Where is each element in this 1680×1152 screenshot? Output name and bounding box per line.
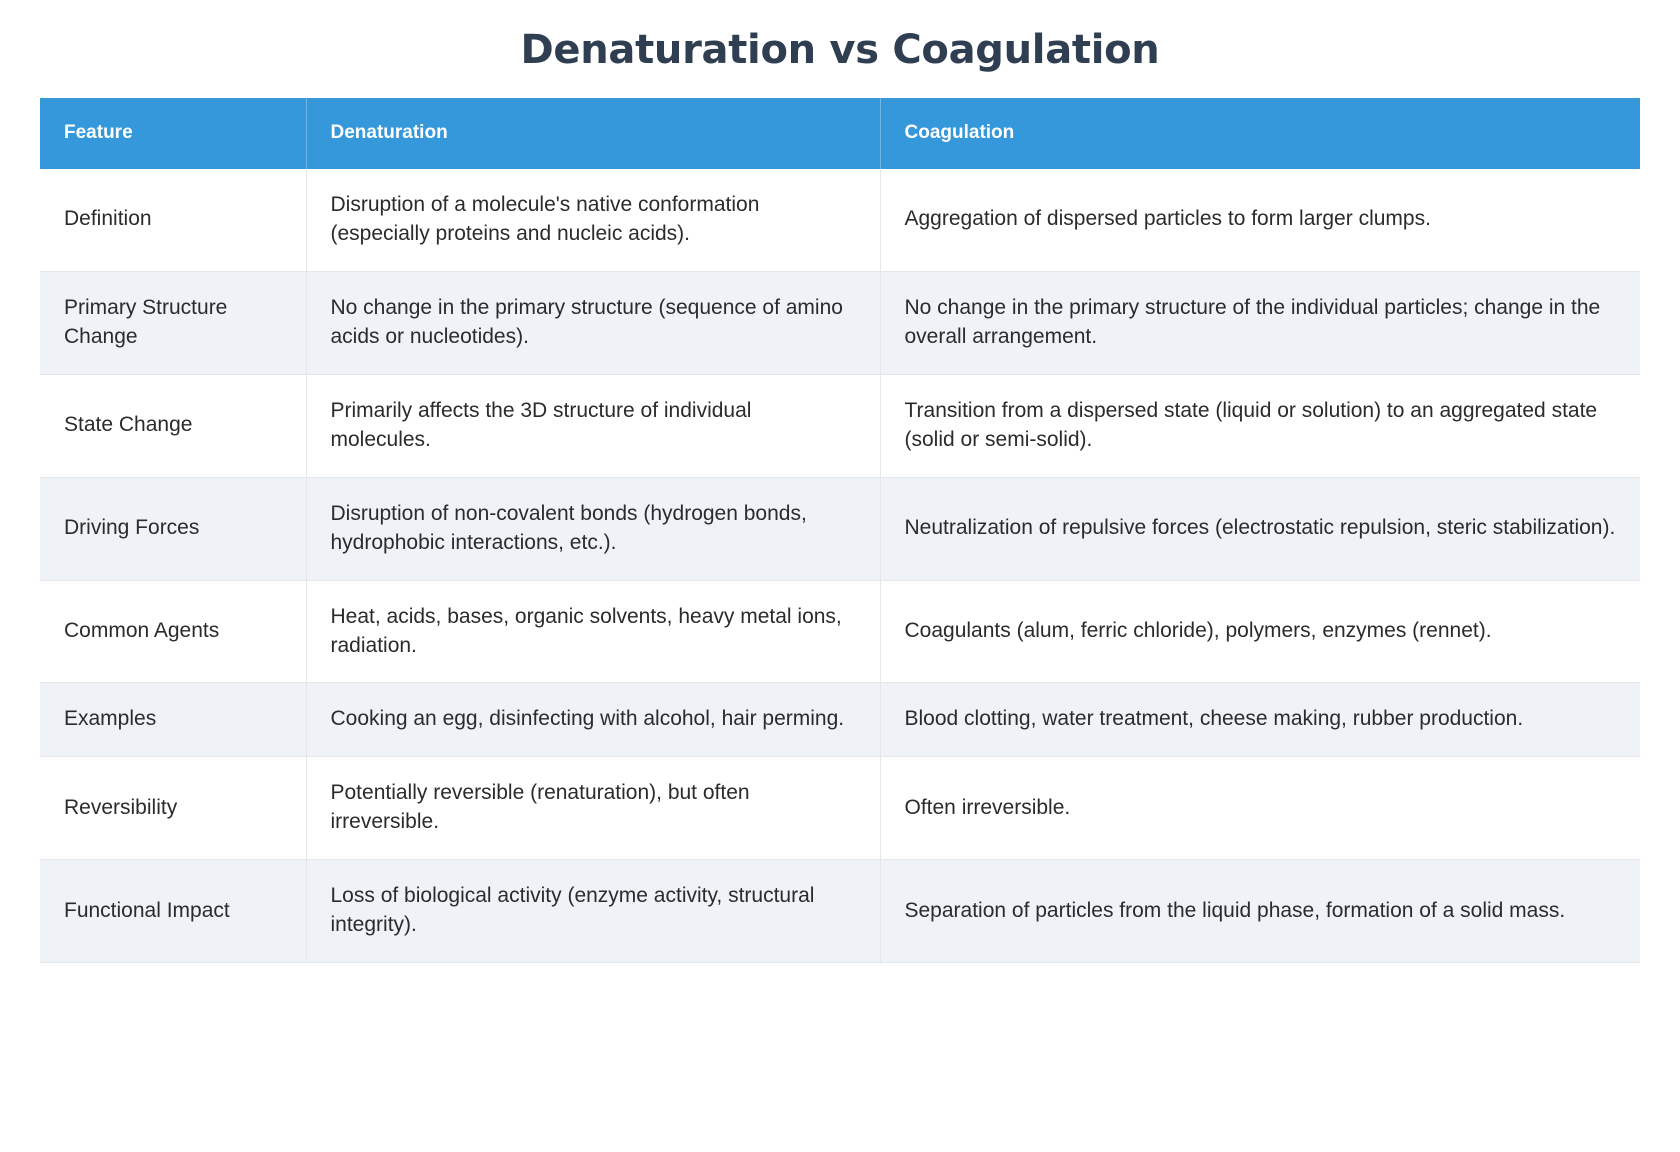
comparison-table-page: Denaturation vs Coagulation Feature Dena…: [0, 0, 1680, 1152]
column-header-feature[interactable]: Feature: [40, 98, 306, 169]
table-row: ReversibilityPotentially reversible (ren…: [40, 757, 1640, 860]
table-row: Functional ImpactLoss of biological acti…: [40, 860, 1640, 963]
cell-feature: Primary Structure Change: [40, 271, 306, 374]
table-body: DefinitionDisruption of a molecule's nat…: [40, 169, 1640, 963]
cell-denaturation: Cooking an egg, disinfecting with alcoho…: [306, 683, 880, 757]
column-header-coagulation[interactable]: Coagulation: [880, 98, 1640, 169]
cell-denaturation: Potentially reversible (renaturation), b…: [306, 757, 880, 860]
cell-denaturation: Disruption of non-covalent bonds (hydrog…: [306, 477, 880, 580]
cell-denaturation: Primarily affects the 3D structure of in…: [306, 374, 880, 477]
cell-denaturation: Heat, acids, bases, organic solvents, he…: [306, 580, 880, 683]
cell-feature: State Change: [40, 374, 306, 477]
table-row: Common AgentsHeat, acids, bases, organic…: [40, 580, 1640, 683]
table-header: Feature Denaturation Coagulation: [40, 98, 1640, 169]
cell-feature: Common Agents: [40, 580, 306, 683]
cell-denaturation: Disruption of a molecule's native confor…: [306, 169, 880, 271]
cell-feature: Functional Impact: [40, 860, 306, 963]
table-container: Feature Denaturation Coagulation Definit…: [40, 98, 1640, 963]
cell-coagulation: Blood clotting, water treatment, cheese …: [880, 683, 1640, 757]
cell-coagulation: No change in the primary structure of th…: [880, 271, 1640, 374]
table-row: Primary Structure ChangeNo change in the…: [40, 271, 1640, 374]
cell-feature: Driving Forces: [40, 477, 306, 580]
table-row: DefinitionDisruption of a molecule's nat…: [40, 169, 1640, 271]
table-row: ExamplesCooking an egg, disinfecting wit…: [40, 683, 1640, 757]
page-title: Denaturation vs Coagulation: [0, 0, 1680, 98]
cell-feature: Definition: [40, 169, 306, 271]
table-header-row: Feature Denaturation Coagulation: [40, 98, 1640, 169]
cell-coagulation: Often irreversible.: [880, 757, 1640, 860]
table-row: Driving ForcesDisruption of non-covalent…: [40, 477, 1640, 580]
column-header-denaturation[interactable]: Denaturation: [306, 98, 880, 169]
cell-coagulation: Coagulants (alum, ferric chloride), poly…: [880, 580, 1640, 683]
table-row: State ChangePrimarily affects the 3D str…: [40, 374, 1640, 477]
cell-coagulation: Neutralization of repulsive forces (elec…: [880, 477, 1640, 580]
cell-coagulation: Aggregation of dispersed particles to fo…: [880, 169, 1640, 271]
comparison-table: Feature Denaturation Coagulation Definit…: [40, 98, 1640, 963]
cell-feature: Reversibility: [40, 757, 306, 860]
cell-coagulation: Separation of particles from the liquid …: [880, 860, 1640, 963]
cell-feature: Examples: [40, 683, 306, 757]
cell-coagulation: Transition from a dispersed state (liqui…: [880, 374, 1640, 477]
cell-denaturation: Loss of biological activity (enzyme acti…: [306, 860, 880, 963]
cell-denaturation: No change in the primary structure (sequ…: [306, 271, 880, 374]
